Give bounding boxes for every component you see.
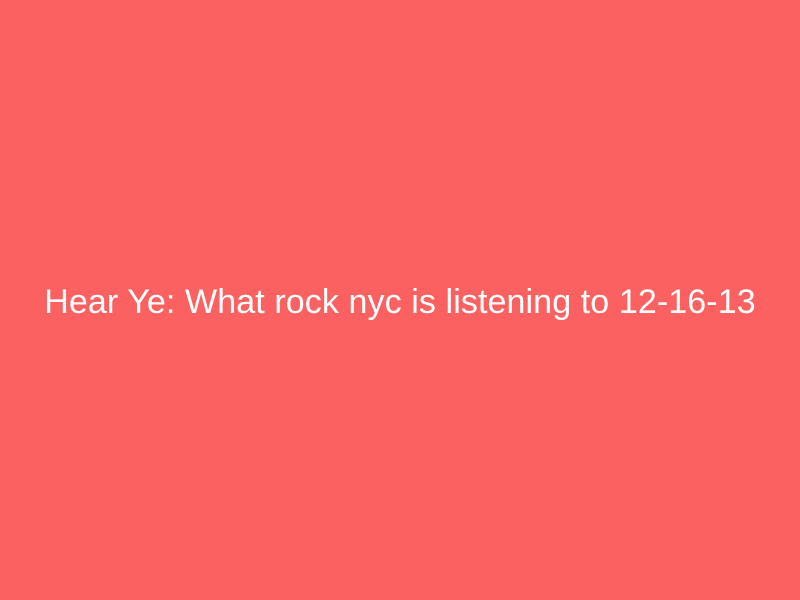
placeholder-card: Hear Ye: What rock nyc is listening to 1… <box>0 0 800 600</box>
headline-container: Hear Ye: What rock nyc is listening to 1… <box>0 0 800 600</box>
page-title: Hear Ye: What rock nyc is listening to 1… <box>44 282 756 323</box>
